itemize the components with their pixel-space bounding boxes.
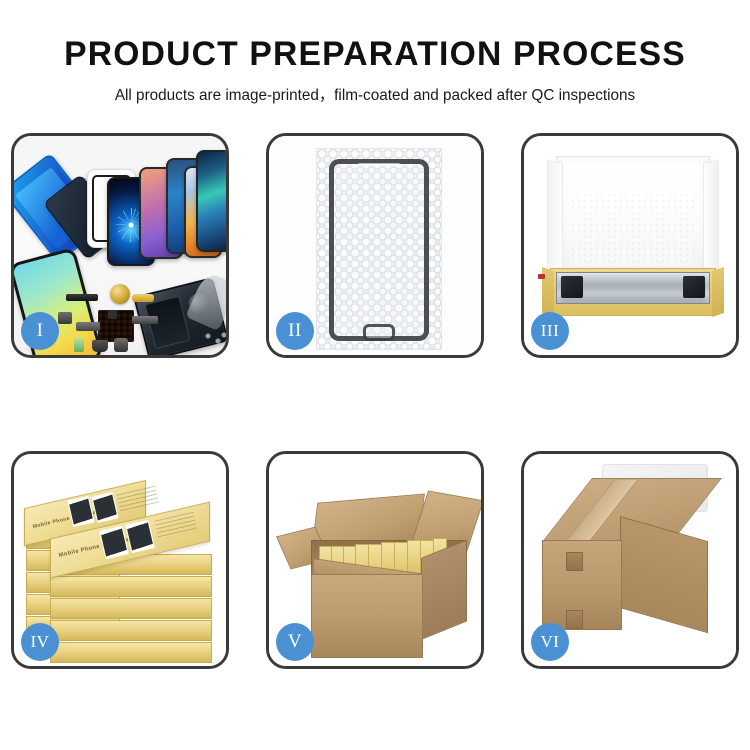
process-step-panel-2[interactable]: II: [266, 133, 484, 358]
process-row-bottom: Mobile Phone Spare Parts Mobile Phone Sp…: [0, 451, 750, 669]
carton-front-panel-icon: [311, 574, 423, 658]
small-ic-part-icon: [108, 310, 117, 319]
step-badge-5: V: [276, 623, 314, 661]
step-badge-3: III: [531, 312, 569, 350]
carton-handle-tab-top-icon: [566, 552, 583, 571]
carton-handle-tab-bottom-icon: [566, 610, 583, 629]
screen-frame-icon: [329, 159, 429, 341]
process-row-top: I II III: [0, 133, 750, 358]
step-badge-6: VI: [531, 623, 569, 661]
speaker-coil-part-icon: [110, 284, 130, 304]
earpiece-speaker-part-icon: [66, 294, 98, 301]
wave-pattern-phone-icon: [196, 150, 226, 252]
step-badge-1: I: [21, 312, 59, 350]
battery-part-icon: [74, 338, 84, 352]
camera-module-part-icon: [114, 338, 128, 352]
home-button-icon: [363, 324, 395, 341]
process-steps-grid: I II III: [0, 133, 750, 669]
ribbon-cable-part-icon: [132, 316, 158, 324]
process-step-panel-1[interactable]: I: [11, 133, 229, 358]
process-step-panel-4[interactable]: Mobile Phone Spare Parts Mobile Phone Sp…: [11, 451, 229, 669]
gold-connector-part-icon: [132, 294, 154, 302]
wrapped-screen-in-box-icon: [556, 272, 710, 304]
process-step-panel-5[interactable]: V: [266, 451, 484, 669]
page-title: PRODUCT PREPARATION PROCESS: [4, 34, 747, 74]
flex-cable-part-icon: [76, 322, 100, 331]
step-badge-4: IV: [21, 623, 59, 661]
step-badge-2: II: [276, 312, 314, 350]
vibrator-motor-part-icon: [92, 340, 108, 352]
bubble-wrap-sheet-icon: [316, 148, 442, 350]
page-subtitle: All products are image-printed，film-coat…: [0, 83, 750, 105]
foam-insert-icon: [570, 192, 694, 266]
red-label-dot-icon: [538, 274, 545, 279]
page-header: PRODUCT PREPARATION PROCESS All products…: [0, 0, 750, 105]
sim-tray-part-icon: [58, 312, 72, 324]
process-step-panel-6[interactable]: VI: [521, 451, 739, 669]
process-step-panel-3[interactable]: III: [521, 133, 739, 358]
screws-icon: [204, 332, 226, 348]
